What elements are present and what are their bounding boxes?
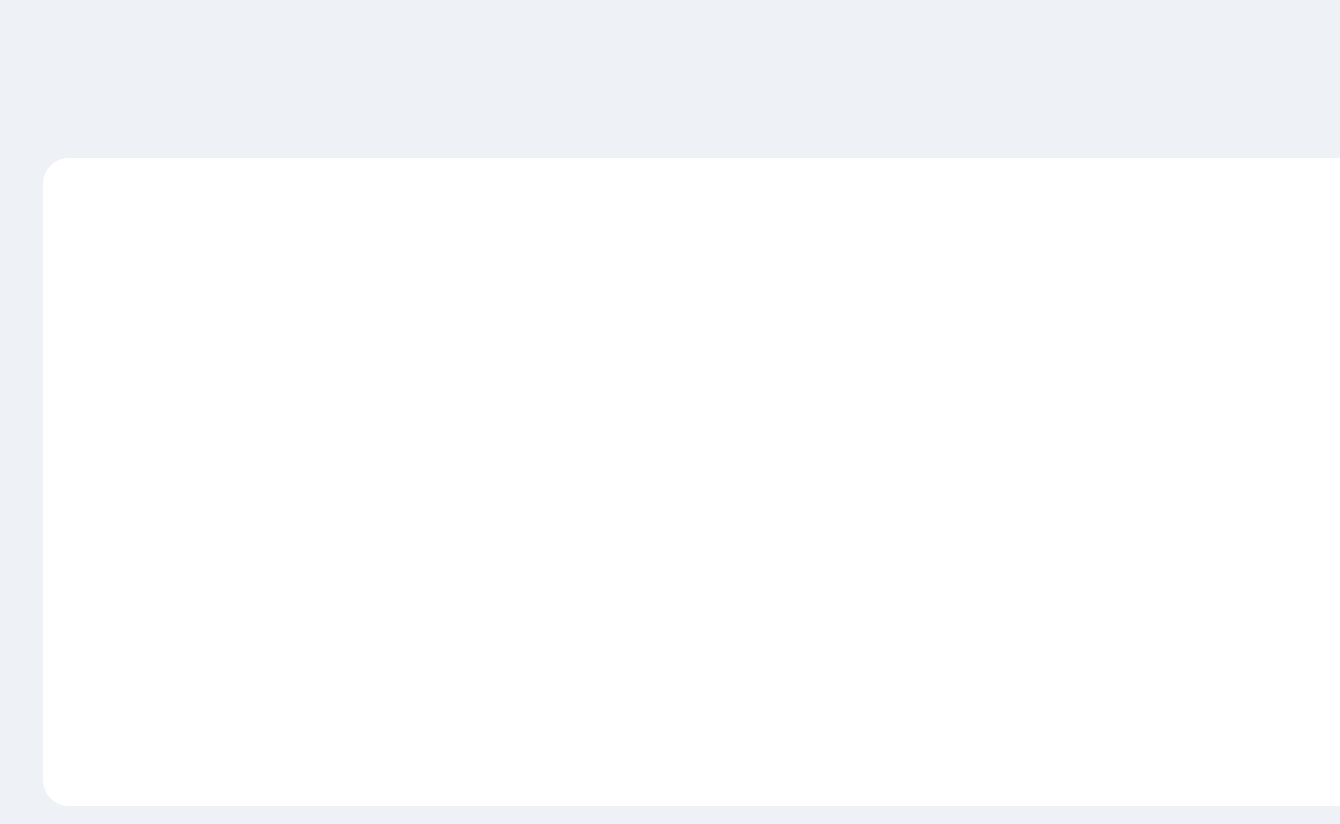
chart-plot-area[interactable] bbox=[43, 328, 1340, 628]
x-axis bbox=[43, 628, 1340, 688]
stacked-area-chart[interactable] bbox=[43, 328, 1340, 628]
chart-card bbox=[43, 158, 1340, 806]
page-root bbox=[0, 0, 1340, 824]
